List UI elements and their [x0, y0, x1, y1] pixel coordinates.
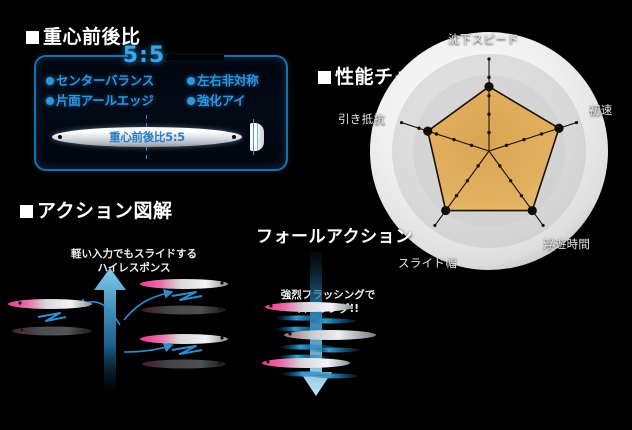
bullet-dot-icon	[187, 77, 195, 85]
feature-label: センターバランス	[56, 73, 154, 88]
feature-item-asymmetric: 左右非対称	[187, 70, 259, 89]
cross-section-axis-inner	[257, 124, 258, 150]
action-caption: 軽い入力でもスライドする ハイレスポンス	[54, 247, 214, 275]
action-section-heading: アクション図解	[20, 196, 173, 223]
feature-item-reinforced-eye: 強化アイ	[187, 90, 246, 109]
fall-caption-line1: 強烈フラッシングで	[268, 288, 388, 302]
action-flow-arrows	[78, 292, 172, 352]
fall-caption-line2: ローリング!!	[268, 302, 388, 316]
lure-illustration-lower-right	[140, 334, 228, 369]
balance-ratio-value: 5:5	[112, 46, 176, 66]
action-caption-line2: ハイレスポンス	[54, 261, 214, 275]
lure-illustration-left	[8, 299, 92, 336]
infographic-canvas: 重心前後比 5:5 センターバランス 左右非対称 片面アールエッジ 強化アイ 重…	[0, 0, 632, 430]
feature-label: 片面アールエッジ	[56, 93, 154, 108]
fall-caption: 強烈フラッシングで ローリング!!	[268, 288, 388, 316]
fall-rotation-rings-top	[274, 315, 356, 331]
lure-center-label: 重心前後比5:5	[52, 127, 242, 147]
fall-rotation-rings-bottom	[280, 371, 358, 378]
lure-cross-section	[248, 123, 266, 151]
cross-section-axis	[253, 119, 254, 155]
bullet-dot-icon	[46, 97, 54, 105]
feature-label: 強化アイ	[197, 93, 246, 108]
feature-item-center-balance: センターバランス	[46, 70, 154, 89]
upward-arrow-icon	[94, 268, 126, 390]
radar-axis-label-initial-speed: 初速	[589, 102, 613, 118]
square-bullet-icon	[20, 205, 33, 218]
square-bullet-icon	[26, 31, 39, 44]
square-bullet-icon	[318, 71, 331, 84]
bullet-dot-icon	[187, 97, 195, 105]
lure-centerline	[146, 115, 147, 159]
fall-rotation-rings-middle	[276, 344, 360, 359]
radar-axis-label-float-time: 浮遊時間	[543, 236, 590, 252]
action-caption-line1: 軽い入力でもスライドする	[54, 247, 214, 261]
feature-label: 左右非対称	[197, 73, 259, 88]
action-heading-text: アクション図解	[37, 200, 173, 222]
lure-schematic: 重心前後比5:5	[44, 115, 276, 159]
lure-illustration-upper-right	[140, 279, 228, 315]
fall-lure-bottom	[262, 358, 350, 368]
radar-axis-label-slide-width: スライド幅	[398, 255, 457, 271]
feature-item-r-edge: 片面アールエッジ	[46, 90, 154, 109]
radar-axis-label-drag: 引き抵抗	[338, 111, 385, 127]
radar-axis-label-sink-speed: 沈下スピード	[448, 31, 519, 47]
fall-section-heading: フォールアクション	[256, 222, 413, 247]
bullet-dot-icon	[46, 77, 54, 85]
fall-lure-middle	[284, 330, 376, 340]
downward-arrow-icon	[300, 252, 332, 396]
